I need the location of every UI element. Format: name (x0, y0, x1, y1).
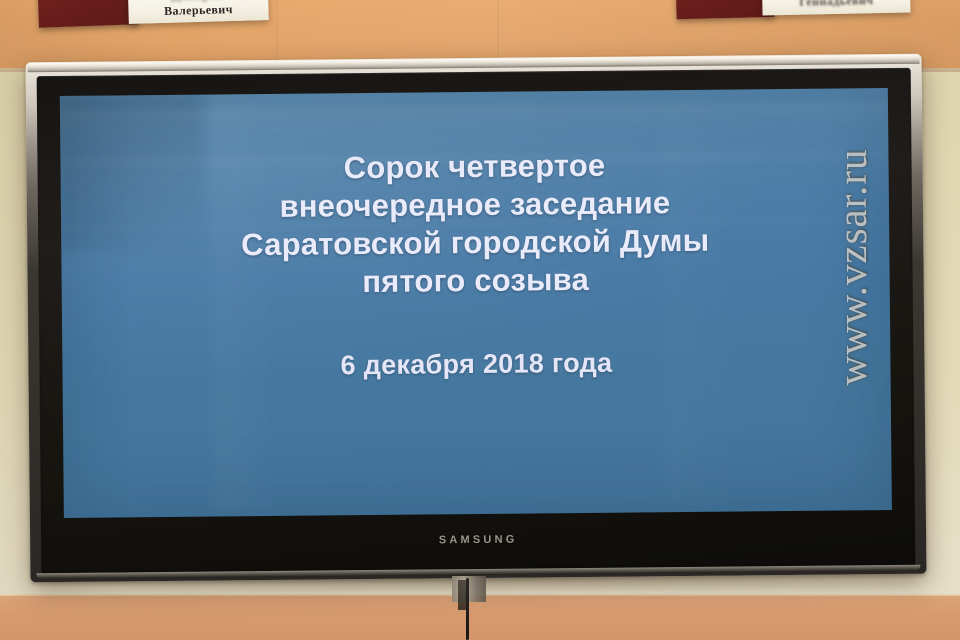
wall-lower-band (0, 596, 960, 640)
tv-power-cable (466, 578, 469, 640)
tv-bezel-inner-shadow (37, 68, 916, 574)
nameplate-left: Дмитрий Валерьевич (127, 0, 269, 24)
nameplate-right-line1: Геннадьевич (762, 0, 910, 11)
photo-scene: 66 Дмитрий Валерьевич 67 Геннадьевич Сор… (0, 0, 960, 640)
desk-number-plate-right: 67 (675, 0, 774, 19)
television: Сорок четвертое внеочередное заседание С… (26, 54, 927, 583)
desk-number-plate-left: 66 (37, 0, 139, 28)
